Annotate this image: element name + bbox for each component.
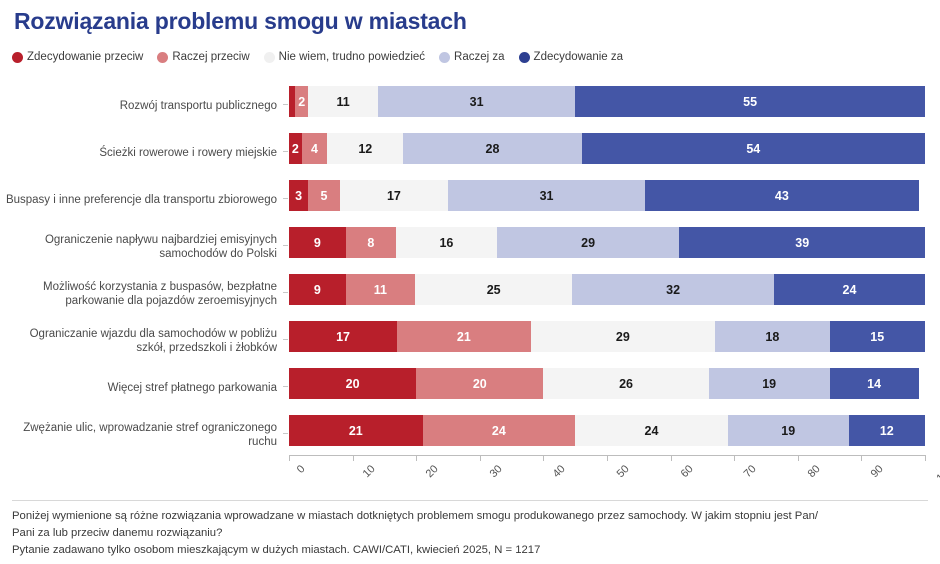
legend-item-label: Raczej przeciw	[172, 51, 249, 63]
footer-line-3: Pytanie zadawano tylko osobom mieszkając…	[12, 542, 930, 559]
bar-value-label: 19	[762, 377, 776, 391]
bar-segment[interactable]: 55	[575, 86, 925, 117]
stacked-bar: 911253224	[289, 274, 925, 305]
chart-row: Możliwość korzystania z buspasów, bezpła…	[0, 270, 940, 317]
bar-value-label: 32	[666, 283, 680, 297]
chart-row: Zwężanie ulic, wprowadzanie stref ograni…	[0, 411, 940, 458]
bar-value-label: 21	[349, 424, 363, 438]
x-axis-tick-label: 0	[295, 463, 308, 476]
bar-value-label: 16	[439, 236, 453, 250]
bar-segment[interactable]: 2	[289, 133, 302, 164]
bar-value-label: 3	[295, 189, 302, 203]
bar-segment[interactable]: 16	[396, 227, 497, 258]
bar-segment[interactable]: 14	[830, 368, 919, 399]
x-axis-tick-label: 100	[934, 463, 940, 484]
bar-segment[interactable]: 24	[774, 274, 925, 305]
bar-segment[interactable]: 11	[346, 274, 415, 305]
category-label: Buspasy i inne preferencje dla transport…	[0, 176, 283, 223]
bar-value-label: 39	[795, 236, 809, 250]
legend-item-0[interactable]: Zdecydowanie przeciw	[12, 51, 143, 63]
bar-value-label: 31	[540, 189, 554, 203]
stacked-bar: 98162939	[289, 227, 925, 258]
bar-value-label: 9	[314, 283, 321, 297]
bar-value-label: 9	[314, 236, 321, 250]
bar-segment[interactable]: 9	[289, 274, 346, 305]
bar-segment[interactable]: 19	[709, 368, 830, 399]
bar-value-label: 31	[470, 95, 484, 109]
bar-segment[interactable]: 29	[497, 227, 680, 258]
x-axis-tick-label: 10	[360, 463, 377, 480]
bar-segment[interactable]: 54	[582, 133, 925, 164]
legend-item-label: Zdecydowanie za	[534, 51, 624, 63]
bar-value-label: 8	[367, 236, 374, 250]
chart-row: Więcej stref płatnego parkowania20202619…	[0, 364, 940, 411]
category-label: Więcej stref płatnego parkowania	[0, 364, 283, 411]
x-axis-tick	[480, 455, 481, 461]
x-axis-tick	[289, 455, 290, 461]
bar-segment[interactable]: 19	[728, 415, 849, 446]
bar-value-label: 24	[645, 424, 659, 438]
bar-value-label: 25	[487, 283, 501, 297]
bar-value-label: 17	[387, 189, 401, 203]
bar-value-label: 12	[358, 142, 372, 156]
bar-value-label: 17	[336, 330, 350, 344]
bar-value-label: 24	[843, 283, 857, 297]
bar-segment[interactable]: 11	[308, 86, 378, 117]
category-label: Ścieżki rowerowe i rowery miejskie	[0, 129, 283, 176]
x-axis-tick	[416, 455, 417, 461]
bar-segment[interactable]: 39	[679, 227, 925, 258]
bar-segment[interactable]: 31	[378, 86, 575, 117]
bar-value-label: 15	[870, 330, 884, 344]
footer-note: Poniżej wymienione są różne rozwiązania …	[12, 508, 930, 559]
chart-row: Buspasy i inne preferencje dla transport…	[0, 176, 940, 223]
bar-segment[interactable]: 20	[289, 368, 416, 399]
legend-dot-icon	[12, 52, 23, 63]
legend-dot-icon	[439, 52, 450, 63]
stacked-bar: 35173143	[289, 180, 925, 211]
bar-value-label: 4	[311, 142, 318, 156]
bar-value-label: 54	[746, 142, 760, 156]
legend-item-label: Nie wiem, trudno powiedzieć	[279, 51, 425, 63]
x-axis-tick-label: 40	[551, 463, 568, 480]
bar-segment[interactable]: 17	[289, 321, 397, 352]
x-axis-tick-label: 80	[805, 463, 822, 480]
page-title: Rozwiązania problemu smogu w miastach	[14, 8, 467, 35]
bar-segment[interactable]: 28	[403, 133, 581, 164]
bar-segment[interactable]: 43	[645, 180, 918, 211]
chart-row: Ograniczanie wjazdu dla samochodów w pob…	[0, 317, 940, 364]
bar-segment[interactable]: 9	[289, 227, 346, 258]
y-axis-tick	[283, 433, 288, 434]
bar-segment[interactable]: 25	[415, 274, 572, 305]
y-axis-tick	[283, 151, 288, 152]
category-label: Rozwój transportu publicznego	[0, 82, 283, 129]
bar-segment[interactable]: 24	[423, 415, 576, 446]
stacked-bar: 2124241912	[289, 415, 925, 446]
bar-segment[interactable]: 26	[543, 368, 708, 399]
x-axis-tick-label: 70	[742, 463, 759, 480]
bar-value-label: 21	[457, 330, 471, 344]
chart-row: Ścieżki rowerowe i rowery miejskie241228…	[0, 129, 940, 176]
bar-value-label: 29	[581, 236, 595, 250]
y-axis-tick	[283, 339, 288, 340]
x-axis-tick	[543, 455, 544, 461]
x-axis-tick-label: 50	[615, 463, 632, 480]
footer-line-1: Poniżej wymienione są różne rozwiązania …	[12, 508, 930, 525]
bar-segment[interactable]: 8	[346, 227, 396, 258]
bar-segment[interactable]: 24	[575, 415, 728, 446]
x-axis-tick	[607, 455, 608, 461]
x-axis-tick	[353, 455, 354, 461]
bar-value-label: 18	[765, 330, 779, 344]
category-label: Ograniczenie napływu najbardziej emisyjn…	[0, 223, 283, 270]
stacked-bar: 24122854	[289, 133, 925, 164]
bar-segment[interactable]: 17	[340, 180, 448, 211]
bar-segment[interactable]: 5	[308, 180, 340, 211]
legend-item-2[interactable]: Nie wiem, trudno powiedzieć	[264, 51, 425, 63]
footer-divider	[12, 500, 928, 501]
bar-value-label: 28	[486, 142, 500, 156]
y-axis-tick	[283, 386, 288, 387]
chart-page: Rozwiązania problemu smogu w miastach Zd…	[0, 0, 940, 564]
bar-value-label: 55	[743, 95, 757, 109]
x-axis-tick	[798, 455, 799, 461]
bar-segment[interactable]: 29	[531, 321, 715, 352]
legend-dot-icon	[157, 52, 168, 63]
y-axis-tick	[283, 292, 288, 293]
legend-item-4[interactable]: Zdecydowanie za	[519, 51, 624, 63]
bar-segment[interactable]: 15	[830, 321, 925, 352]
x-axis-tick	[671, 455, 672, 461]
x-axis-tick-label: 90	[869, 463, 886, 480]
bar-value-label: 5	[321, 189, 328, 203]
bar-value-label: 11	[374, 283, 387, 297]
bar-segment[interactable]: 12	[327, 133, 403, 164]
category-label: Ograniczanie wjazdu dla samochodów w pob…	[0, 317, 283, 364]
bar-segment[interactable]: 20	[416, 368, 543, 399]
legend-item-1[interactable]: Raczej przeciw	[157, 51, 249, 63]
bar-segment[interactable]: 2	[295, 86, 308, 117]
x-axis-tick-label: 30	[487, 463, 504, 480]
bar-value-label: 20	[473, 377, 487, 391]
footer-line-2: Pani za lub przeciw danemu rozwiązaniu?	[12, 525, 930, 542]
bar-value-label: 29	[616, 330, 630, 344]
bar-segment[interactable]: 21	[397, 321, 531, 352]
bar-value-label: 24	[492, 424, 506, 438]
bar-segment[interactable]: 21	[289, 415, 423, 446]
chart-row: Ograniczenie napływu najbardziej emisyjn…	[0, 223, 940, 270]
legend-item-label: Raczej za	[454, 51, 505, 63]
bar-value-label: 14	[867, 377, 881, 391]
category-label: Zwężanie ulic, wprowadzanie stref ograni…	[0, 411, 283, 458]
x-axis-tick-label: 20	[424, 463, 441, 480]
bar-value-label: 19	[781, 424, 795, 438]
chart-legend: Zdecydowanie przeciwRaczej przeciwNie wi…	[12, 48, 637, 66]
chart-row: Rozwój transportu publicznego2113155	[0, 82, 940, 129]
bar-value-label: 20	[346, 377, 360, 391]
legend-dot-icon	[519, 52, 530, 63]
bar-value-label: 26	[619, 377, 633, 391]
bar-segment[interactable]: 12	[849, 415, 925, 446]
category-label: Możliwość korzystania z buspasów, bezpła…	[0, 270, 283, 317]
legend-dot-icon	[264, 52, 275, 63]
stacked-bar: 2113155	[289, 86, 925, 117]
bar-segment[interactable]: 4	[302, 133, 327, 164]
bar-value-label: 43	[775, 189, 789, 203]
x-axis: 0102030405060708090100	[0, 455, 940, 495]
legend-item-label: Zdecydowanie przeciw	[27, 51, 143, 63]
stacked-bar: 2020261914	[289, 368, 925, 399]
y-axis-tick	[283, 104, 288, 105]
bar-segment[interactable]: 3	[289, 180, 308, 211]
bar-segment[interactable]: 32	[572, 274, 774, 305]
bar-value-label: 12	[880, 424, 894, 438]
x-axis-tick	[861, 455, 862, 461]
stacked-bar: 1721291815	[289, 321, 925, 352]
bar-value-label: 2	[292, 142, 299, 156]
plot-area: Rozwój transportu publicznego2113155Ście…	[0, 82, 940, 462]
legend-item-3[interactable]: Raczej za	[439, 51, 505, 63]
y-axis-tick	[283, 245, 288, 246]
x-axis-tick	[734, 455, 735, 461]
bar-segment[interactable]: 31	[448, 180, 645, 211]
y-axis-tick	[283, 198, 288, 199]
bar-value-label: 2	[298, 95, 305, 109]
bar-value-label: 11	[336, 95, 349, 109]
x-axis-tick-label: 60	[678, 463, 695, 480]
bar-segment[interactable]: 18	[715, 321, 829, 352]
x-axis-tick	[925, 455, 926, 461]
